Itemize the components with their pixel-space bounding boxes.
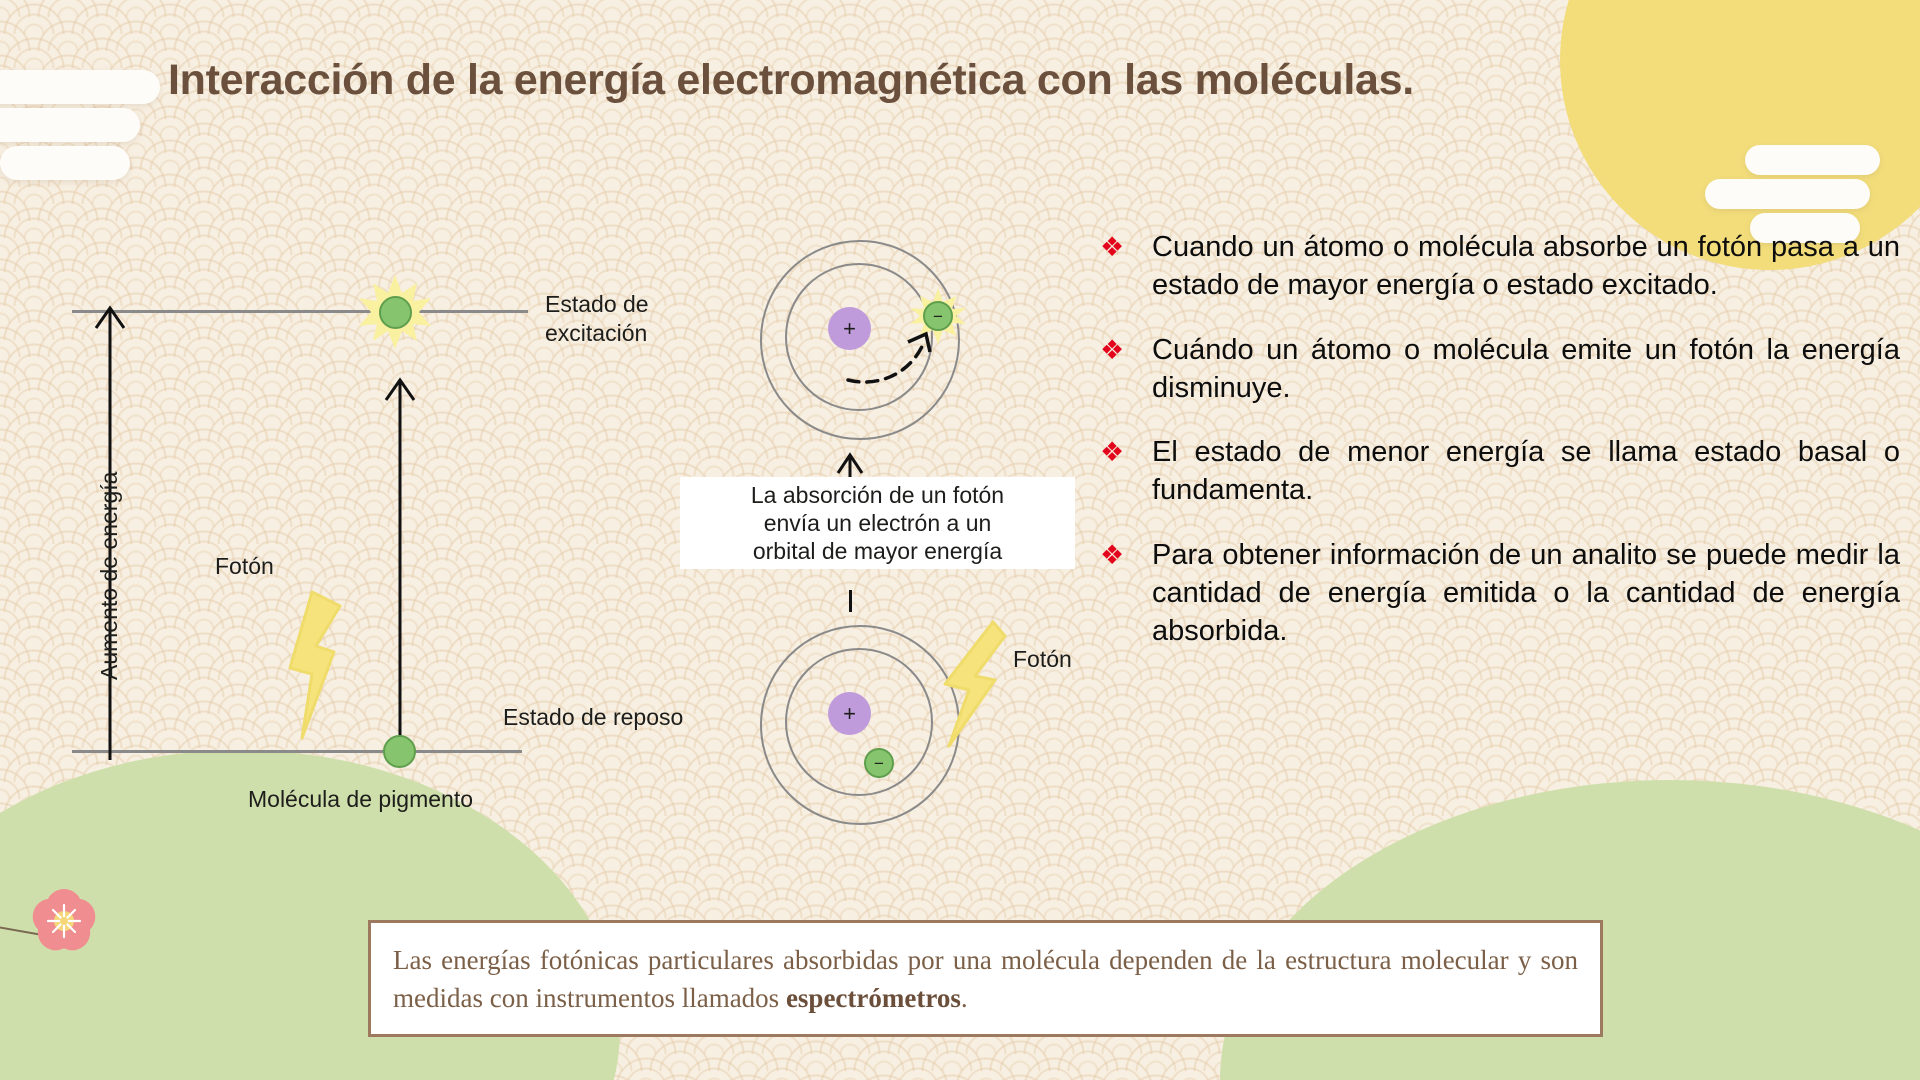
callout-line-1: La absorción de un fotón [751,482,1004,508]
energy-axis-label: Aumento de energía [96,472,123,680]
atom-bottom-electron-charge: − [874,755,884,772]
bullet-marker-icon: ❖ [1100,228,1152,266]
excited-state-label-line1: Estado de [545,291,649,317]
bullet-item: ❖ El estado de menor energía se llama es… [1100,433,1900,510]
excitation-arrow [380,370,420,760]
electron-transition-dashed-arrow [840,320,960,400]
photon-label-right: Fotón [1013,645,1072,674]
note-text-bold: espectrómetros [786,983,961,1013]
bullet-marker-icon: ❖ [1100,331,1152,369]
bullet-item: ❖ Cuándo un átomo o molécula emite un fo… [1100,331,1900,408]
bullet-text: El estado de menor energía se llama esta… [1152,433,1900,510]
atom-bottom-nucleus-charge: + [843,701,856,727]
rest-state-label: Estado de reposo [503,703,683,732]
bullet-marker-icon: ❖ [1100,433,1152,471]
excited-state-label-line2: excitación [545,320,647,346]
excited-molecule-marker [379,296,412,329]
atom-bottom-nucleus: + [828,692,871,735]
atom-bottom-electron: − [864,748,894,778]
bullet-text: Para obtener información de un analito s… [1152,536,1900,651]
energy-level-diagram: Aumento de energía Estado de excitación … [0,0,1100,1080]
callout-line-2: envía un electrón a un [764,510,992,536]
summary-note-box: Las energías fotónicas particulares abso… [368,920,1603,1037]
bullet-list: ❖ Cuando un átomo o molécula absorbe un … [1100,228,1900,676]
callout-tick [849,590,852,612]
bullet-text: Cuando un átomo o molécula absorbe un fo… [1152,228,1900,305]
ground-state-line [72,750,522,753]
slide-root: Interacción de la energía electromagnéti… [0,0,1920,1080]
absorption-callout-box: La absorción de un fotón envía un electr… [680,477,1075,569]
photon-label-left: Fotón [215,552,274,581]
bullet-item: ❖ Cuando un átomo o molécula absorbe un … [1100,228,1900,305]
ground-molecule-label: Molécula de pigmento [248,785,473,814]
note-text-part1: Las energías fotónicas particulares abso… [393,945,1578,1013]
photon-bolt-left-icon [286,590,366,740]
excited-state-label: Estado de excitación [545,290,649,348]
bullet-item: ❖ Para obtener información de un analito… [1100,536,1900,651]
bullet-marker-icon: ❖ [1100,536,1152,574]
ground-molecule-marker [383,735,416,768]
callout-line-3: orbital de mayor energía [753,538,1002,564]
photon-bolt-right-icon [935,620,1015,750]
bullet-text: Cuándo un átomo o molécula emite un fotó… [1152,331,1900,408]
note-text-part2: . [961,983,968,1013]
